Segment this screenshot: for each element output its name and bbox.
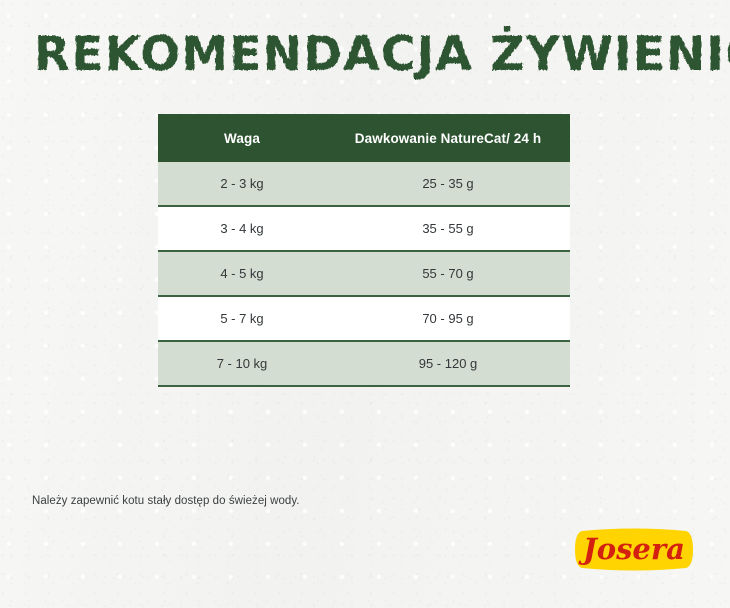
table-row: 4 - 5 kg 55 - 70 g bbox=[158, 251, 570, 296]
cell-weight: 7 - 10 kg bbox=[158, 341, 326, 386]
dosage-table: Waga Dawkowanie NatureCat/ 24 h 2 - 3 kg… bbox=[158, 114, 570, 387]
column-header-weight: Waga bbox=[158, 114, 326, 162]
table-header-row: Waga Dawkowanie NatureCat/ 24 h bbox=[158, 114, 570, 162]
table-row: 2 - 3 kg 25 - 35 g bbox=[158, 162, 570, 206]
cell-weight: 3 - 4 kg bbox=[158, 206, 326, 251]
cell-dosage: 70 - 95 g bbox=[326, 296, 570, 341]
footnote-text: Należy zapewnić kotu stały dostęp do świ… bbox=[32, 495, 300, 507]
page-title: REKOMENDACJA ŻYWIENIOWA bbox=[34, 26, 654, 84]
cell-dosage: 35 - 55 g bbox=[326, 206, 570, 251]
logo-wordmark: Josera bbox=[578, 532, 685, 566]
cell-dosage: 55 - 70 g bbox=[326, 251, 570, 296]
table-row: 5 - 7 kg 70 - 95 g bbox=[158, 296, 570, 341]
table-row: 7 - 10 kg 95 - 120 g bbox=[158, 341, 570, 386]
cell-dosage: 95 - 120 g bbox=[326, 341, 570, 386]
josera-logo: Josera bbox=[572, 527, 696, 572]
cell-weight: 2 - 3 kg bbox=[158, 162, 326, 206]
page-title-text: REKOMENDACJA ŻYWIENIOWA bbox=[34, 27, 730, 82]
table-row: 3 - 4 kg 35 - 55 g bbox=[158, 206, 570, 251]
cell-weight: 4 - 5 kg bbox=[158, 251, 326, 296]
cell-dosage: 25 - 35 g bbox=[326, 162, 570, 206]
column-header-dosage: Dawkowanie NatureCat/ 24 h bbox=[326, 114, 570, 162]
cell-weight: 5 - 7 kg bbox=[158, 296, 326, 341]
